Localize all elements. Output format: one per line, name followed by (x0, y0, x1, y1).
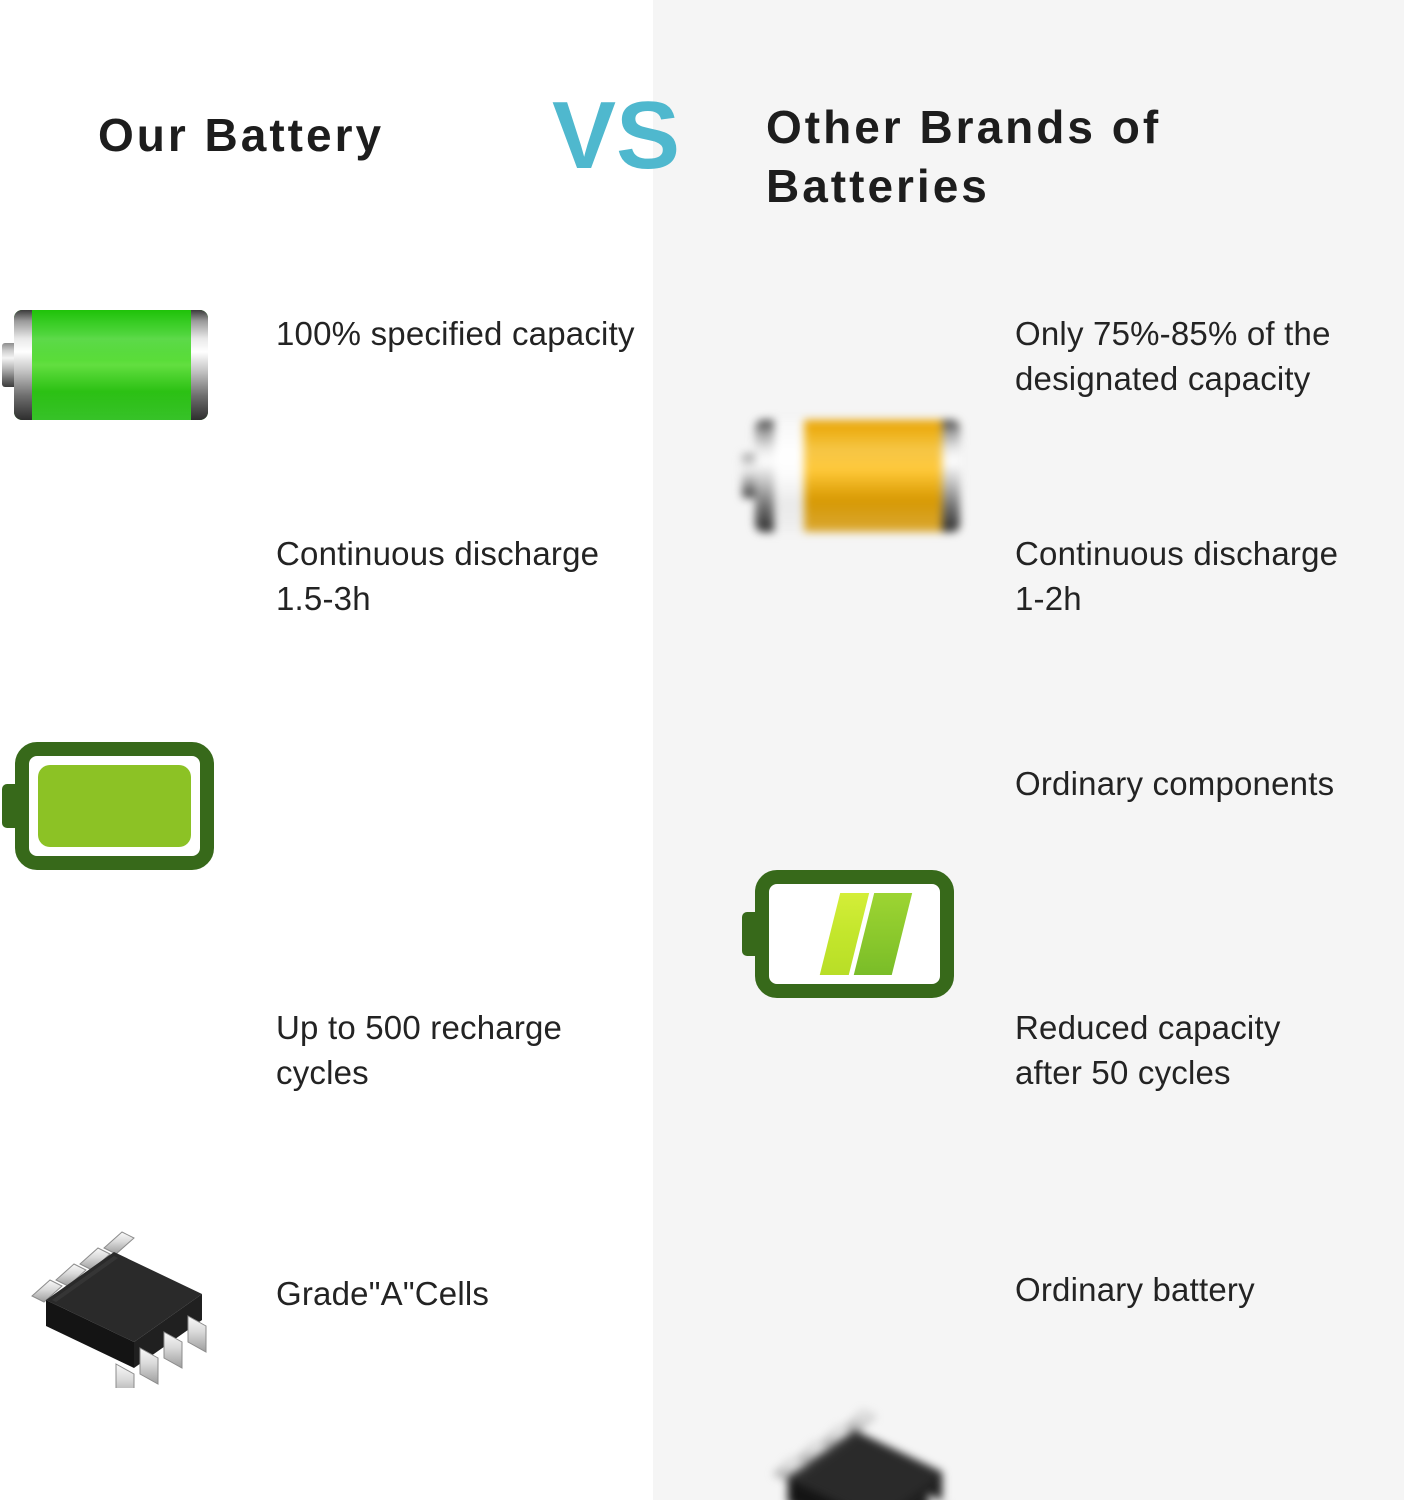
ic-chip-icon (760, 1386, 968, 1500)
row-cycles-right-label: Reduced capacity after 50 cycles (1015, 1006, 1355, 1096)
full-green-battery-icon (2, 310, 208, 420)
row-components-right-label: Ordinary components (1015, 762, 1355, 807)
row-cells-left-label: Grade"A"Cells (276, 1272, 636, 1317)
battery-gloss (14, 310, 208, 420)
row-discharge-right-label: Continuous discharge 1-2h (1015, 532, 1355, 622)
row-cells-right-label: Ordinary battery (1015, 1268, 1355, 1313)
left-column-title: Our Battery (98, 108, 568, 162)
partial-orange-battery-blurred-icon (742, 420, 960, 532)
row-capacity-left-label: 100% specified capacity (276, 312, 636, 357)
comparison-infographic: Our Battery VS Other Brands of Batteries… (0, 0, 1404, 1500)
outline-battery-full-icon (2, 742, 214, 870)
outline-battery-partial-icon (742, 870, 954, 998)
battery-body (755, 420, 960, 532)
battery-inner (778, 893, 931, 975)
battery-gloss (755, 420, 960, 532)
battery-cap-right (191, 310, 208, 420)
battery-cap-left (755, 420, 773, 532)
battery-body (14, 310, 208, 420)
battery-outline (755, 870, 954, 998)
battery-outline (15, 742, 214, 870)
row-capacity-right-label: Only 75%-85% of the designated capacity (1015, 312, 1355, 402)
ic-chip-icon (18, 1208, 228, 1388)
battery-fill (38, 765, 191, 847)
row-discharge-left-label: Continuous discharge 1.5-3h (276, 532, 636, 622)
battery-cap-right (942, 420, 960, 532)
right-column-title: Other Brands of Batteries (766, 98, 1306, 216)
row-cycles-left-label: Up to 500 recharge cycles (276, 1006, 636, 1096)
vs-label: VS (552, 88, 680, 184)
battery-cap-left (14, 310, 31, 420)
battery-inner (38, 765, 191, 847)
